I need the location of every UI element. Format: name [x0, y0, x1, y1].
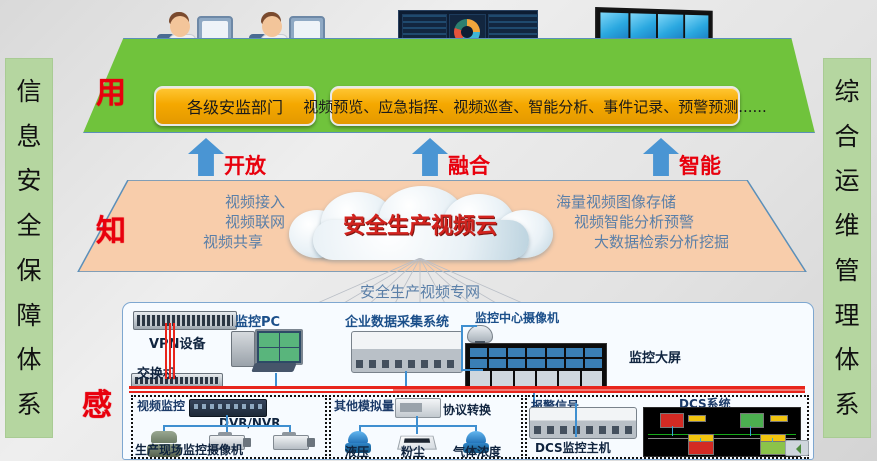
converter-panel — [400, 403, 422, 412]
label-site-cameras: 生产现场监控摄像机 — [135, 441, 243, 458]
pillar-right-char-6: 体 — [834, 347, 859, 372]
label-vpn-device: VPN设备 — [149, 333, 205, 352]
console-unit — [582, 371, 602, 387]
wall-tile — [600, 12, 627, 39]
hmi-unit — [760, 440, 786, 455]
net-link-vertical — [169, 323, 171, 379]
link-converter-down — [416, 416, 418, 425]
console-unit — [559, 371, 579, 387]
head-shape — [170, 16, 190, 37]
quad-cell — [280, 333, 300, 347]
hmi-tag — [688, 434, 714, 442]
wall-tile — [527, 359, 544, 368]
pillar-right-char-4: 管 — [834, 258, 859, 283]
cloud-left-item-1: 视频联网 — [140, 212, 285, 232]
console-desk — [470, 371, 602, 387]
pillar-left-char-7: 系 — [16, 392, 41, 417]
layer-letter-sense: 感 — [82, 380, 112, 424]
quad-cell — [259, 348, 279, 362]
pillar-information-security: 信 息 安 全 保 障 体 系 — [5, 58, 53, 438]
wall-tile — [527, 348, 544, 357]
hmi-link — [772, 438, 773, 442]
quad-cell — [280, 348, 300, 362]
wall-tile — [470, 348, 487, 357]
label-monitoring-pc: 监控PC — [235, 311, 280, 330]
wall-tile — [547, 359, 564, 368]
wall-tile — [489, 348, 506, 357]
button-safety-departments[interactable]: 各级安监部门 — [154, 86, 316, 126]
pc-keyboard-illustration — [251, 363, 297, 372]
pillar-left-char-4: 保 — [16, 258, 41, 283]
box-camera-icon — [273, 435, 309, 450]
label-hydraulic: 液压 — [345, 443, 369, 460]
link-server-to-camera-v — [461, 351, 463, 371]
vpn-device-illustration — [133, 311, 237, 330]
label-video-monitoring: 视频监控 — [137, 397, 185, 414]
arrow-label-fusion: 融合 — [448, 150, 490, 180]
button-application-functions[interactable]: 视频预览、应急指挥、视频巡查、智能分析、事件记录、预警预测...... — [330, 86, 740, 126]
hmi-tag — [688, 415, 706, 422]
link-camera-h — [461, 325, 477, 327]
server-ports — [356, 360, 458, 368]
protocol-converter-illustration — [395, 398, 441, 418]
dvr-front-panel — [194, 404, 262, 409]
cloud-right-item-1: 视频智能分析预警 — [556, 212, 776, 232]
label-dust: 粉尘 — [401, 443, 425, 460]
control-room-video-wall — [470, 348, 602, 368]
dome-camera-icon — [467, 325, 493, 343]
arrow-up-icon-intelligent — [643, 138, 679, 176]
pillar-left-char-5: 障 — [16, 303, 41, 328]
arrow-up-icon-open — [188, 138, 224, 176]
label-large-screen: 监控大屏 — [629, 347, 681, 366]
pc-tower-illustration — [231, 331, 255, 367]
pillar-right-char-2: 运 — [834, 168, 859, 193]
pillar-left-char-0: 信 — [16, 79, 41, 104]
pillar-left-char-3: 全 — [16, 213, 41, 238]
arrow-up-icon-fusion — [412, 138, 448, 176]
layer-letter-know: 知 — [96, 206, 126, 250]
pillar-operations-management: 综 合 运 维 管 理 体 系 — [823, 58, 871, 438]
link-sensor2 — [416, 425, 418, 434]
hmi-tag — [770, 415, 788, 422]
cloud-right-item-2: 大数据检索分析挖掘 — [556, 232, 776, 252]
cloud-left-item-2: 视频共享 — [140, 232, 285, 252]
pillar-left-char-2: 安 — [16, 168, 41, 193]
wall-tile — [508, 348, 525, 357]
hmi-link — [700, 438, 701, 442]
wall-tile — [547, 348, 564, 357]
hmi-link — [750, 426, 751, 436]
monitor-quad-view — [259, 333, 299, 361]
link-sensor-bus — [359, 425, 477, 427]
wall-tile — [685, 15, 709, 40]
label-control-center-camera: 监控中心摄像机 — [475, 309, 559, 326]
layer-letter-use: 用 — [96, 68, 126, 112]
console-unit — [537, 371, 557, 387]
server-ports — [534, 426, 632, 434]
wall-tile — [508, 359, 525, 368]
cloud-capabilities-right: 海量视频图像存储 视频智能分析预警 大数据检索分析挖掘 — [556, 192, 776, 252]
infrastructure-panel: VPN设备 交换机 监控PC 企业数据采集系统 监控中心摄像机 — [122, 302, 814, 460]
head-shape — [262, 16, 282, 37]
arrow-label-intelligent: 智能 — [679, 150, 721, 180]
port-row — [137, 315, 233, 326]
hmi-link — [672, 426, 673, 436]
pillar-right-char-5: 理 — [834, 303, 859, 328]
console-unit — [470, 371, 490, 387]
wall-tile — [566, 359, 583, 368]
net-link-vertical — [165, 323, 167, 379]
cloud-left-item-0: 视频接入 — [140, 192, 285, 212]
dvr-illustration — [189, 399, 267, 417]
link-server-h — [461, 369, 483, 371]
net-link-vertical — [173, 323, 175, 379]
cloud-capabilities-left: 视频接入 视频联网 视频共享 — [140, 192, 285, 252]
link-camera-riser — [461, 325, 463, 351]
pillar-left-char-6: 体 — [16, 347, 41, 372]
label-dvr-nvr: DVR/NVR — [219, 416, 280, 430]
pillar-right-char-0: 综 — [834, 79, 859, 104]
quad-cell — [259, 333, 279, 347]
pc-monitor-illustration — [255, 329, 303, 365]
dcs-hmi-illustration — [643, 407, 801, 457]
cloud-right-item-0: 海量视频图像存储 — [556, 192, 776, 212]
label-protocol-conversion: 协议转换 — [443, 401, 491, 418]
cloud-title: 安全生产视频云 — [283, 208, 557, 240]
pillar-left-char-1: 息 — [16, 124, 41, 149]
label-dcs-host: DCS监控主机 — [535, 439, 611, 456]
hmi-unit — [740, 413, 764, 428]
console-unit — [515, 371, 535, 387]
cloud-shape: 安全生产视频云 — [283, 186, 557, 262]
label-data-collection-system: 企业数据采集系统 — [345, 311, 449, 330]
dcs-host-illustration — [529, 407, 637, 439]
resize-handle-icon[interactable] — [785, 440, 809, 456]
link-dcs-host — [575, 403, 577, 437]
network-bus-line-tertiary — [129, 391, 805, 393]
wall-tile — [470, 359, 487, 368]
hmi-tag — [760, 434, 786, 442]
wall-tile — [585, 348, 602, 357]
wall-tile — [489, 359, 506, 368]
wall-tile — [658, 14, 683, 40]
pillar-right-char-7: 系 — [834, 392, 859, 417]
data-collection-server-illustration — [351, 331, 463, 373]
link-dvr-down — [226, 415, 228, 425]
wall-tile — [585, 359, 602, 368]
hmi-unit — [688, 440, 714, 455]
arrow-label-open: 开放 — [224, 150, 266, 180]
wall-tile — [566, 348, 583, 357]
diagram-canvas: 信 息 安 全 保 障 体 系 综 合 运 维 管 理 体 系 — [0, 0, 877, 461]
pillar-right-char-1: 合 — [834, 124, 859, 149]
pillar-right-char-3: 维 — [834, 213, 859, 238]
console-unit — [492, 371, 512, 387]
label-gas-concentration: 气体浓度 — [453, 443, 501, 460]
wall-tile — [630, 13, 656, 40]
private-network-label: 安全生产视频专网 — [300, 281, 540, 302]
label-other-analog: 其他模拟量 — [334, 397, 394, 414]
